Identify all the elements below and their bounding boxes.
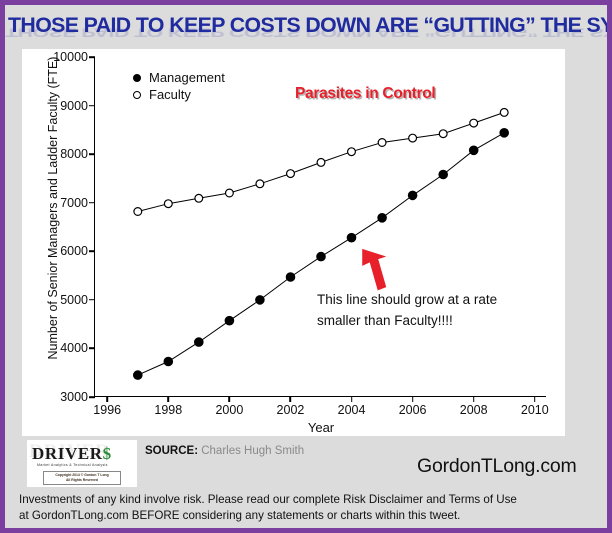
x-tick-mark [229, 396, 231, 402]
x-tick-mark [351, 396, 353, 402]
y-axis-label: Number of Senior Managers and Ladder Fac… [46, 43, 60, 373]
y-tick-label: 7000 [60, 196, 88, 210]
x-tick-label: 2000 [215, 403, 243, 417]
y-tick-label: 9000 [60, 99, 88, 113]
data-point-faculty [348, 148, 356, 156]
y-tick-mark [89, 153, 95, 155]
title-reflection: THOSE PAID TO KEEP COSTS DOWN ARE “GUTTI… [5, 25, 607, 39]
data-point-management [134, 371, 143, 380]
data-point-faculty [439, 130, 447, 138]
source-label: SOURCE: [145, 445, 198, 457]
x-tick-label: 1998 [154, 403, 182, 417]
chart-legend: Management Faculty [133, 69, 225, 103]
annotation-line-2: smaller than Faculty!!!! [317, 310, 497, 331]
x-tick-label: 2002 [277, 403, 305, 417]
data-point-faculty [287, 170, 295, 178]
dollar-icon: $ [103, 444, 112, 463]
annotation-text: This line should grow at a rate smaller … [317, 289, 497, 331]
data-point-management [347, 233, 356, 242]
x-tick-mark [168, 396, 170, 402]
data-point-management [317, 252, 326, 261]
data-point-faculty [134, 208, 142, 216]
logo-name: DRIVER [32, 444, 103, 463]
data-point-management [256, 296, 265, 305]
annotation-line-1: This line should grow at a rate [317, 289, 497, 310]
logo-subtitle: Market Analytics & Technical Analysis [37, 463, 108, 467]
data-point-management [164, 357, 173, 366]
logo-copyright: Copyright 2014 © Gordon T Long All Right… [43, 471, 121, 485]
callout-text: Parasites in Control [295, 85, 435, 103]
data-point-management [439, 170, 448, 179]
x-tick-mark [412, 396, 414, 402]
data-point-faculty [378, 139, 386, 147]
logo-copyright-line-2: All Rights Reserved [44, 478, 120, 483]
x-tick-label: 2008 [460, 403, 488, 417]
y-tick-mark [89, 250, 95, 252]
y-tick-mark [89, 202, 95, 204]
disclaimer-line-2: at GordonTLong.com BEFORE considering an… [19, 508, 599, 524]
data-point-management [500, 129, 509, 138]
data-point-faculty [500, 109, 508, 117]
data-point-management [408, 191, 417, 200]
data-point-faculty [409, 134, 417, 142]
x-tick-label: 2004 [338, 403, 366, 417]
data-point-management [469, 146, 478, 155]
red-arrow-icon [362, 249, 386, 291]
source-credit: SOURCE: Charles Hugh Smith [145, 445, 304, 457]
data-point-faculty [195, 194, 203, 202]
y-tick-mark [89, 299, 95, 301]
data-point-management [195, 338, 204, 347]
y-tick-label: 8000 [60, 147, 88, 161]
x-tick-label: 2010 [521, 403, 549, 417]
legend-item-management: Management [133, 69, 225, 86]
y-tick-mark [89, 348, 95, 350]
x-tick-label: 1996 [93, 403, 121, 417]
y-tick-label: 4000 [60, 341, 88, 355]
legend-item-faculty: Faculty [133, 86, 225, 103]
y-tick-mark [89, 105, 95, 107]
data-point-faculty [226, 189, 234, 197]
legend-label-faculty: Faculty [149, 86, 191, 103]
y-tick-label: 6000 [60, 244, 88, 258]
disclaimer: Investments of any kind involve risk. Pl… [19, 492, 599, 524]
x-axis-label: Year [95, 420, 547, 435]
y-tick-label: 10000 [53, 50, 88, 64]
y-tick-mark [89, 56, 95, 58]
data-point-management [286, 273, 295, 282]
data-point-faculty [470, 119, 478, 127]
x-tick-mark [473, 396, 475, 402]
y-tick-label: 5000 [60, 293, 88, 307]
y-tick-label: 3000 [60, 390, 88, 404]
open-circle-icon [133, 91, 141, 99]
source-value: Charles Hugh Smith [201, 445, 304, 457]
plot-area: Management Faculty Parasites in Control … [94, 57, 546, 397]
logo-wordmark: DRIVER$ [32, 444, 112, 464]
data-point-faculty [256, 180, 264, 188]
disclaimer-line-1: Investments of any kind involve risk. Pl… [19, 492, 599, 508]
infographic-frame: THOSE PAID TO KEEP COSTS DOWN ARE “GUTTI… [0, 0, 612, 533]
x-tick-mark [290, 396, 292, 402]
data-point-management [378, 214, 387, 223]
data-point-management [225, 316, 234, 325]
title-block: THOSE PAID TO KEEP COSTS DOWN ARE “GUTTI… [5, 13, 607, 53]
data-point-faculty [317, 159, 325, 167]
x-tick-label: 2006 [399, 403, 427, 417]
brand-name: GordonTLong.com [417, 455, 577, 478]
filled-circle-icon [133, 74, 141, 82]
drivers-logo: DRIVER DRIVER$ Market Analytics & Techni… [27, 440, 137, 487]
data-point-faculty [164, 200, 172, 208]
x-tick-mark [106, 396, 108, 402]
y-tick-mark [89, 396, 95, 398]
chart-svg [95, 57, 547, 397]
legend-label-management: Management [149, 69, 225, 86]
chart-card: Number of Senior Managers and Ladder Fac… [22, 49, 565, 436]
x-tick-mark [534, 396, 536, 402]
